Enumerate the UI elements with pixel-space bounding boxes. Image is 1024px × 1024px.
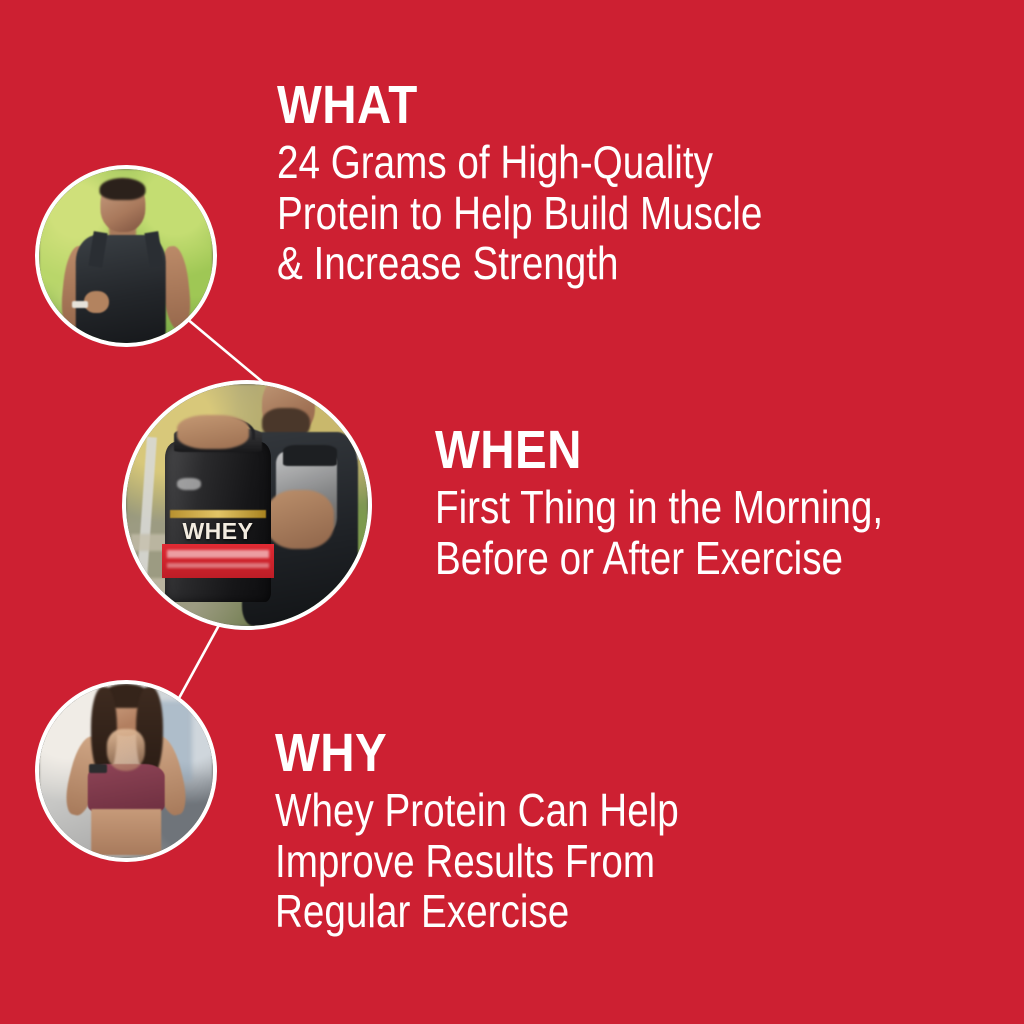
whey-model-hand-holding-shaker <box>266 490 334 548</box>
protein-tub-label-text-row-1 <box>167 550 269 558</box>
woman-wrist-watch <box>89 764 106 773</box>
section-what-body: 24 Grams of High-Quality Protein to Help… <box>277 137 762 289</box>
whey-product-photo: WHEY <box>122 380 372 630</box>
woman-clasped-hands <box>107 729 145 771</box>
runner-wristband <box>72 301 88 308</box>
protein-tub-brand-logo <box>177 478 201 490</box>
woman-midriff <box>91 809 161 854</box>
woman-athlete-photo <box>35 680 217 862</box>
protein-tub-label-text-row-2 <box>167 563 269 568</box>
runner-hair <box>99 178 146 201</box>
protein-tub-gold-strip <box>170 510 267 518</box>
whey-model-hand-on-tub <box>177 415 250 449</box>
woman-photo-inner <box>39 684 213 858</box>
protein-tub-wordmark: WHEY <box>167 520 269 543</box>
runner-photo-inner <box>39 169 213 343</box>
whey-photo-inner: WHEY <box>126 384 368 626</box>
section-when-body: First Thing in the Morning, Before or Af… <box>435 482 883 583</box>
section-why: WHY Whey Protein Can Help Improve Result… <box>275 726 756 937</box>
shaker-bottle-lid <box>283 445 336 467</box>
section-what-kicker: WHAT <box>277 78 786 133</box>
section-when: WHEN First Thing in the Morning, Before … <box>435 423 969 583</box>
infographic-poster: WHEY WHAT 24 Grams of High-Quality Prote… <box>0 0 1024 1024</box>
section-when-kicker: WHEN <box>435 423 904 478</box>
section-what: WHAT 24 Grams of High-Quality Protein to… <box>277 78 855 289</box>
runner-fist <box>84 291 108 314</box>
section-why-kicker: WHY <box>275 726 698 781</box>
runner-photo <box>35 165 217 347</box>
section-why-body: Whey Protein Can Help Improve Results Fr… <box>275 785 679 937</box>
